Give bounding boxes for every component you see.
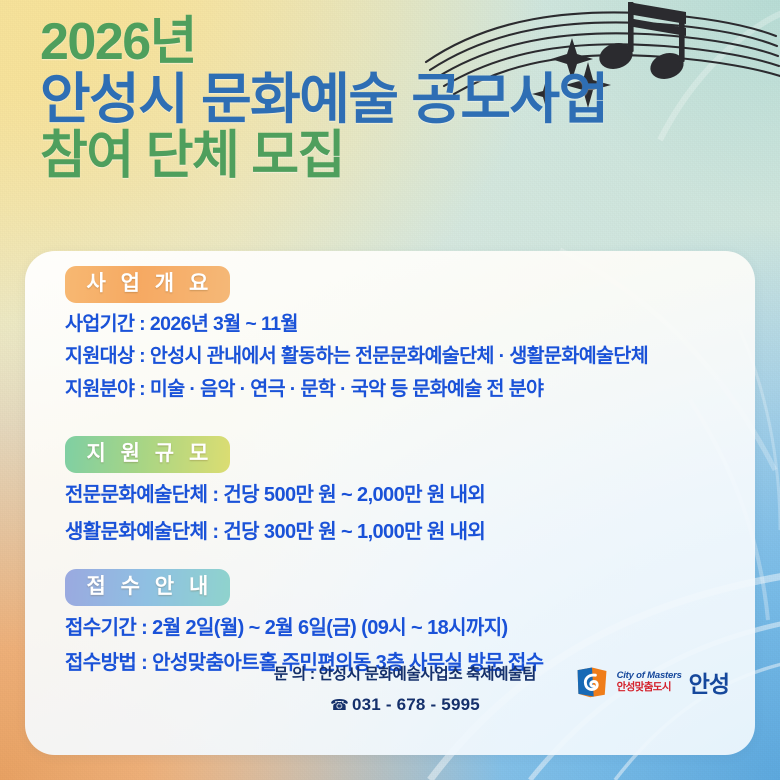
- title-line-1: 2026년: [40, 16, 740, 68]
- logo-city-name: 안성: [689, 665, 729, 699]
- funding-line-community: 생활문화예술단체 : 건당 300만 원 ~ 1,000만 원 내외: [65, 522, 485, 542]
- overview-line-field: 지원분야 : 미술 · 음악 · 연극 · 문학 · 국악 등 문화예술 전 분…: [65, 380, 648, 400]
- section-overview: 사 업 개 요 사업기간 : 2026년 3월 ~ 11월 지원대상 : 안성시…: [65, 266, 648, 412]
- card-footer: 문 의 : 안성시 문화예술사업소 축제예술팀 ☎031 - 678 - 599…: [25, 663, 755, 739]
- contact-phone-number: 031 - 678 - 5995: [352, 695, 480, 714]
- overview-line-period: 사업기간 : 2026년 3월 ~ 11월: [65, 315, 648, 335]
- title-line-2: 안성시 문화예술 공모사업: [40, 72, 740, 127]
- title-line-3: 참여 단체 모집: [40, 130, 740, 182]
- section-heading-funding-scale: 지 원 규 모: [65, 436, 230, 473]
- contact-phone-row: ☎031 - 678 - 5995: [225, 695, 585, 715]
- section-heading-overview: 사 업 개 요: [65, 266, 230, 303]
- section-funding-scale-lines: 전문문화예술단체 : 건당 500만 원 ~ 2,000만 원 내외 생활문화예…: [65, 485, 485, 542]
- section-funding-scale: 지 원 규 모 전문문화예술단체 : 건당 500만 원 ~ 2,000만 원 …: [65, 436, 485, 559]
- poster-title: 2026년 안성시 문화예술 공모사업 참여 단체 모집: [40, 16, 740, 182]
- logo-wordmark: City of Masters 안성맞춤도시 안성: [617, 665, 729, 699]
- anseong-city-logo: City of Masters 안성맞춤도시 안성: [575, 665, 729, 699]
- telephone-icon: ☎: [330, 697, 349, 714]
- section-overview-lines: 사업기간 : 2026년 3월 ~ 11월 지원대상 : 안성시 관내에서 활동…: [65, 315, 648, 400]
- contact-department: 문 의 : 안성시 문화예술사업소 축제예술팀: [225, 667, 585, 683]
- anseong-emblem-icon: [575, 665, 609, 699]
- info-card: 사 업 개 요 사업기간 : 2026년 3월 ~ 11월 지원대상 : 안성시…: [25, 251, 755, 755]
- logo-english-tagline: City of Masters: [617, 671, 682, 681]
- logo-korean-slogan: 안성맞춤도시: [617, 682, 682, 693]
- application-line-period: 접수기간 : 2월 2일(월) ~ 2월 6일(금) (09시 ~ 18시까지): [65, 618, 543, 638]
- contact-block: 문 의 : 안성시 문화예술사업소 축제예술팀 ☎031 - 678 - 599…: [225, 667, 585, 715]
- funding-line-professional: 전문문화예술단체 : 건당 500만 원 ~ 2,000만 원 내외: [65, 485, 485, 505]
- section-heading-application: 접 수 안 내: [65, 569, 230, 606]
- poster-root: 2026년 안성시 문화예술 공모사업 참여 단체 모집 사 업 개 요 사업기…: [0, 0, 780, 780]
- logo-taglines: City of Masters 안성맞춤도시: [617, 671, 682, 694]
- overview-line-target: 지원대상 : 안성시 관내에서 활동하는 전문문화예술단체 · 생활문화예술단체: [65, 347, 648, 367]
